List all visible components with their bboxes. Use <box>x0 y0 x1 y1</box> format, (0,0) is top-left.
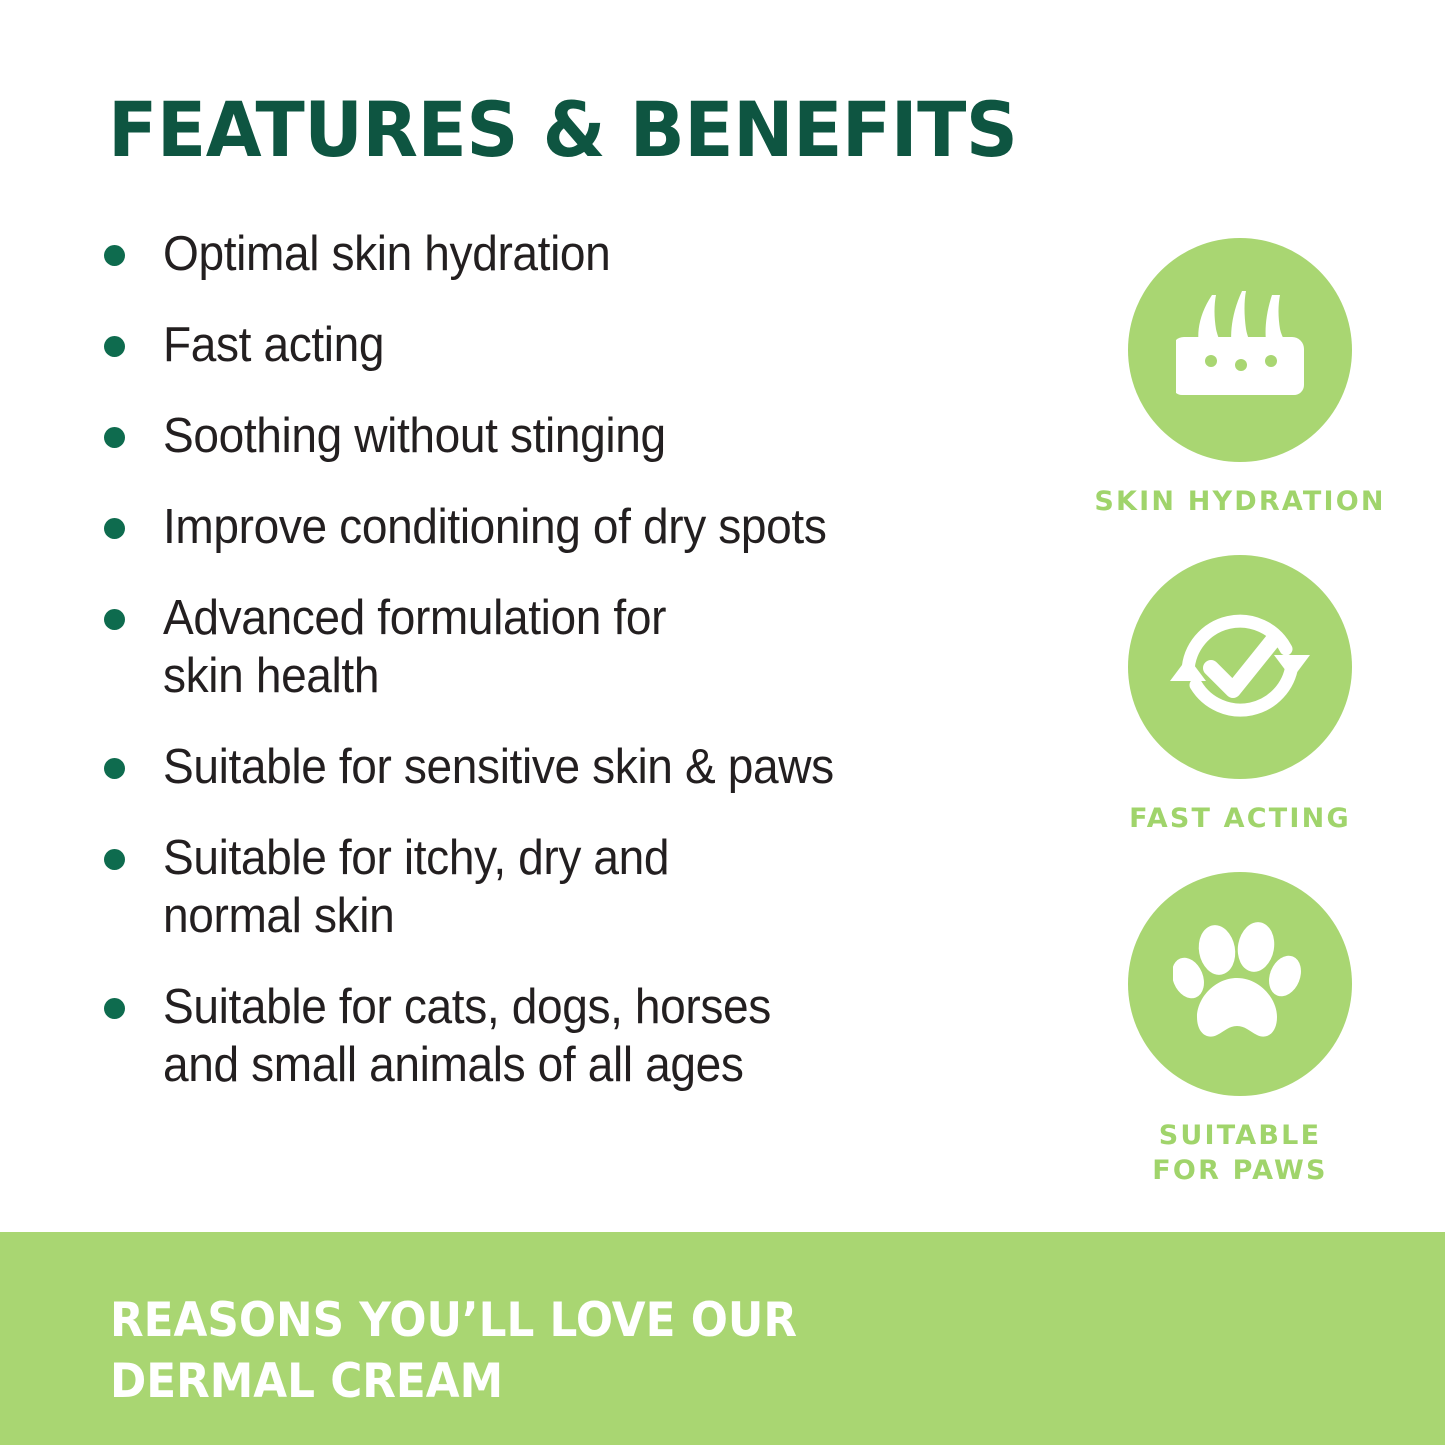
list-item: Soothing without stinging <box>104 407 1064 465</box>
list-item: Improve conditioning of dry spots <box>104 498 1064 556</box>
list-item-label: Optimal skin hydration <box>163 225 610 283</box>
badge-column: SKIN HYDRATION <box>1058 238 1422 1224</box>
bullet-dot-icon <box>104 336 125 357</box>
badge-circle <box>1128 238 1352 462</box>
badge-label: SKIN HYDRATION <box>1058 484 1422 519</box>
hair-follicle-icon <box>1176 289 1304 411</box>
badge-skin-hydration: SKIN HYDRATION <box>1058 238 1422 519</box>
bullet-dot-icon <box>104 758 125 779</box>
list-item: Fast acting <box>104 316 1064 374</box>
product-features-page: FEATURES & BENEFITS Optimal skin hydrati… <box>0 0 1445 1445</box>
features-list: Optimal skin hydration Fast acting Sooth… <box>104 225 1064 1127</box>
refresh-check-icon <box>1166 593 1314 741</box>
list-item-label: Suitable for cats, dogs, horses and smal… <box>163 978 771 1094</box>
bottom-banner: REASONS YOU’LL LOVE OUR DERMAL CREAM <box>0 1232 1445 1445</box>
bullet-dot-icon <box>104 609 125 630</box>
list-item-label: Fast acting <box>163 316 384 374</box>
list-item-label: Suitable for sensitive skin & paws <box>163 738 834 796</box>
list-item-label: Advanced formulation for skin health <box>163 589 666 705</box>
banner-title: REASONS YOU’LL LOVE OUR DERMAL CREAM <box>110 1290 797 1412</box>
list-item: Advanced formulation for skin health <box>104 589 1064 705</box>
paw-print-icon <box>1173 916 1307 1052</box>
bullet-dot-icon <box>104 245 125 266</box>
badge-circle <box>1128 872 1352 1096</box>
list-item: Suitable for itchy, dry and normal skin <box>104 829 1064 945</box>
badge-label: SUITABLE FOR PAWS <box>1058 1118 1422 1188</box>
badge-label: FAST ACTING <box>1058 801 1422 836</box>
list-item: Suitable for cats, dogs, horses and smal… <box>104 978 1064 1094</box>
bullet-dot-icon <box>104 998 125 1019</box>
list-item: Optimal skin hydration <box>104 225 1064 283</box>
page-title: FEATURES & BENEFITS <box>108 88 1017 172</box>
bullet-dot-icon <box>104 518 125 539</box>
bullet-dot-icon <box>104 849 125 870</box>
list-item: Suitable for sensitive skin & paws <box>104 738 1064 796</box>
badge-fast-acting: FAST ACTING <box>1058 555 1422 836</box>
list-item-label: Suitable for itchy, dry and normal skin <box>163 829 669 945</box>
badge-circle <box>1128 555 1352 779</box>
list-item-label: Improve conditioning of dry spots <box>163 498 826 556</box>
badge-suitable-for-paws: SUITABLE FOR PAWS <box>1058 872 1422 1188</box>
bullet-dot-icon <box>104 427 125 448</box>
list-item-label: Soothing without stinging <box>163 407 666 465</box>
